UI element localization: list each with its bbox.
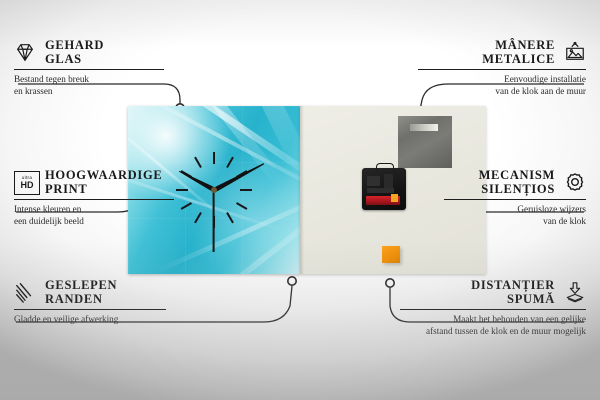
feature-divider: [14, 199, 174, 200]
feature-heading: ultra HD HOOGWAARDIGE PRINT: [14, 168, 186, 196]
feature-manere-metalice: MÂNERE METALICE Eenvoudige installatie v…: [408, 38, 586, 97]
feature-subtitle: Eenvoudige installatie van de klok aan d…: [408, 74, 586, 97]
feature-title: MÂNERE METALICE: [482, 38, 555, 66]
mechanism-detail: [367, 176, 380, 186]
feature-divider: [400, 309, 586, 310]
connector-dot-geslepen-randen: [288, 277, 296, 285]
feature-divider: [418, 69, 586, 70]
feature-heading: GEHARD GLAS: [14, 38, 174, 66]
foam-spacer-pad: [382, 246, 400, 263]
feature-title: GEHARD GLAS: [45, 38, 104, 66]
feature-divider: [14, 309, 166, 310]
feature-title: DISTANȚIER SPUMĂ: [471, 278, 555, 306]
feature-subtitle: Maakt het behouden van een gelijke afsta…: [390, 314, 586, 337]
feature-subtitle: Geruisloze wijzers van de klok: [434, 204, 586, 227]
feature-title: MECANISM SILENȚIOS: [479, 168, 555, 196]
panel-edge-shadow: [300, 106, 304, 274]
feature-subtitle: Bestand tegen breuk en krassen: [14, 74, 174, 97]
metal-hanger-plate: [398, 116, 452, 168]
mechanism-hook: [376, 163, 394, 171]
clock-hand-cap: [211, 187, 217, 193]
hanger-slot: [410, 124, 438, 131]
mechanism-detail: [367, 188, 394, 193]
diamond-icon: [14, 41, 36, 63]
feature-hoogwaardige-print: ultra HD HOOGWAARDIGE PRINT Intense kleu…: [14, 168, 186, 227]
clock-mechanism-box: [362, 168, 406, 210]
mechanism-detail: [384, 174, 393, 188]
feature-gehard-glas: GEHARD GLAS Bestand tegen breuk en krass…: [14, 38, 174, 97]
feature-mecanism-silentios: MECANISM SILENȚIOS Geruisloze wijzers va…: [434, 168, 586, 227]
feature-title: GESLEPEN RANDEN: [45, 278, 117, 306]
feature-divider: [14, 69, 164, 70]
gear-icon: [564, 171, 586, 193]
wall-mount-icon: [564, 41, 586, 63]
ultra-hd-icon: ultra HD: [14, 171, 36, 193]
battery-terminal: [391, 194, 398, 202]
feature-heading: MECANISM SILENȚIOS: [434, 168, 586, 196]
foam-spacer-icon: [564, 281, 586, 303]
feature-title: HOOGWAARDIGE PRINT: [45, 168, 162, 196]
feature-subtitle: Intense kleuren en een duidelijk beeld: [14, 204, 186, 227]
feature-distantier-spuma: DISTANȚIER SPUMĂ Maakt het behouden van …: [390, 278, 586, 337]
feature-heading: DISTANȚIER SPUMĂ: [390, 278, 586, 306]
feature-divider: [444, 199, 586, 200]
feature-geslepen-randen: GESLEPEN RANDEN Gladde en veilige afwerk…: [14, 278, 180, 326]
clock-second-hand: [213, 190, 215, 252]
infographic-canvas: GEHARD GLAS Bestand tegen breuk en krass…: [0, 0, 600, 400]
ultra-hd-badge-bottom: HD: [21, 181, 34, 190]
feature-subtitle: Gladde en veilige afwerking: [14, 314, 180, 325]
feature-heading: GESLEPEN RANDEN: [14, 278, 180, 306]
polished-edges-icon: [14, 281, 36, 303]
feature-heading: MÂNERE METALICE: [408, 38, 586, 66]
